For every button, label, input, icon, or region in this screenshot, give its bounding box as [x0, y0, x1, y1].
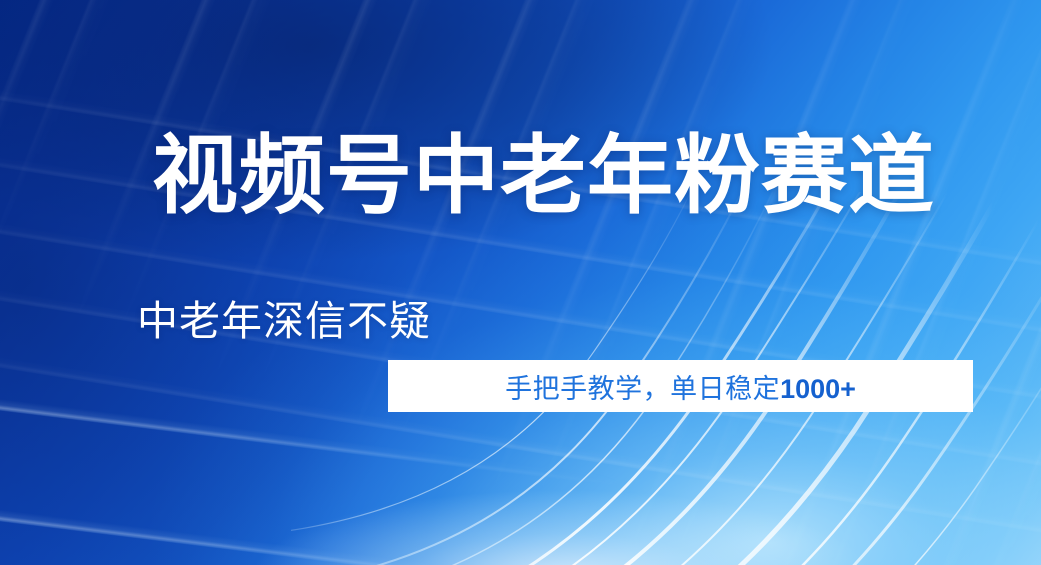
poster-canvas: 视频号中老年粉赛道 中老年深信不疑 手把手教学，单日稳定1000+ — [0, 0, 1041, 565]
highlight-ribbon: 手把手教学，单日稳定1000+ — [388, 360, 973, 412]
poster-headline: 视频号中老年粉赛道 — [152, 130, 942, 223]
ribbon-text: 手把手教学，单日稳定1000+ — [505, 367, 856, 406]
ribbon-highlight-number: 1000+ — [780, 374, 856, 404]
poster-subheadline: 中老年深信不疑 — [137, 298, 431, 345]
ribbon-lead-text: 手把手教学，单日稳定 — [505, 374, 780, 404]
